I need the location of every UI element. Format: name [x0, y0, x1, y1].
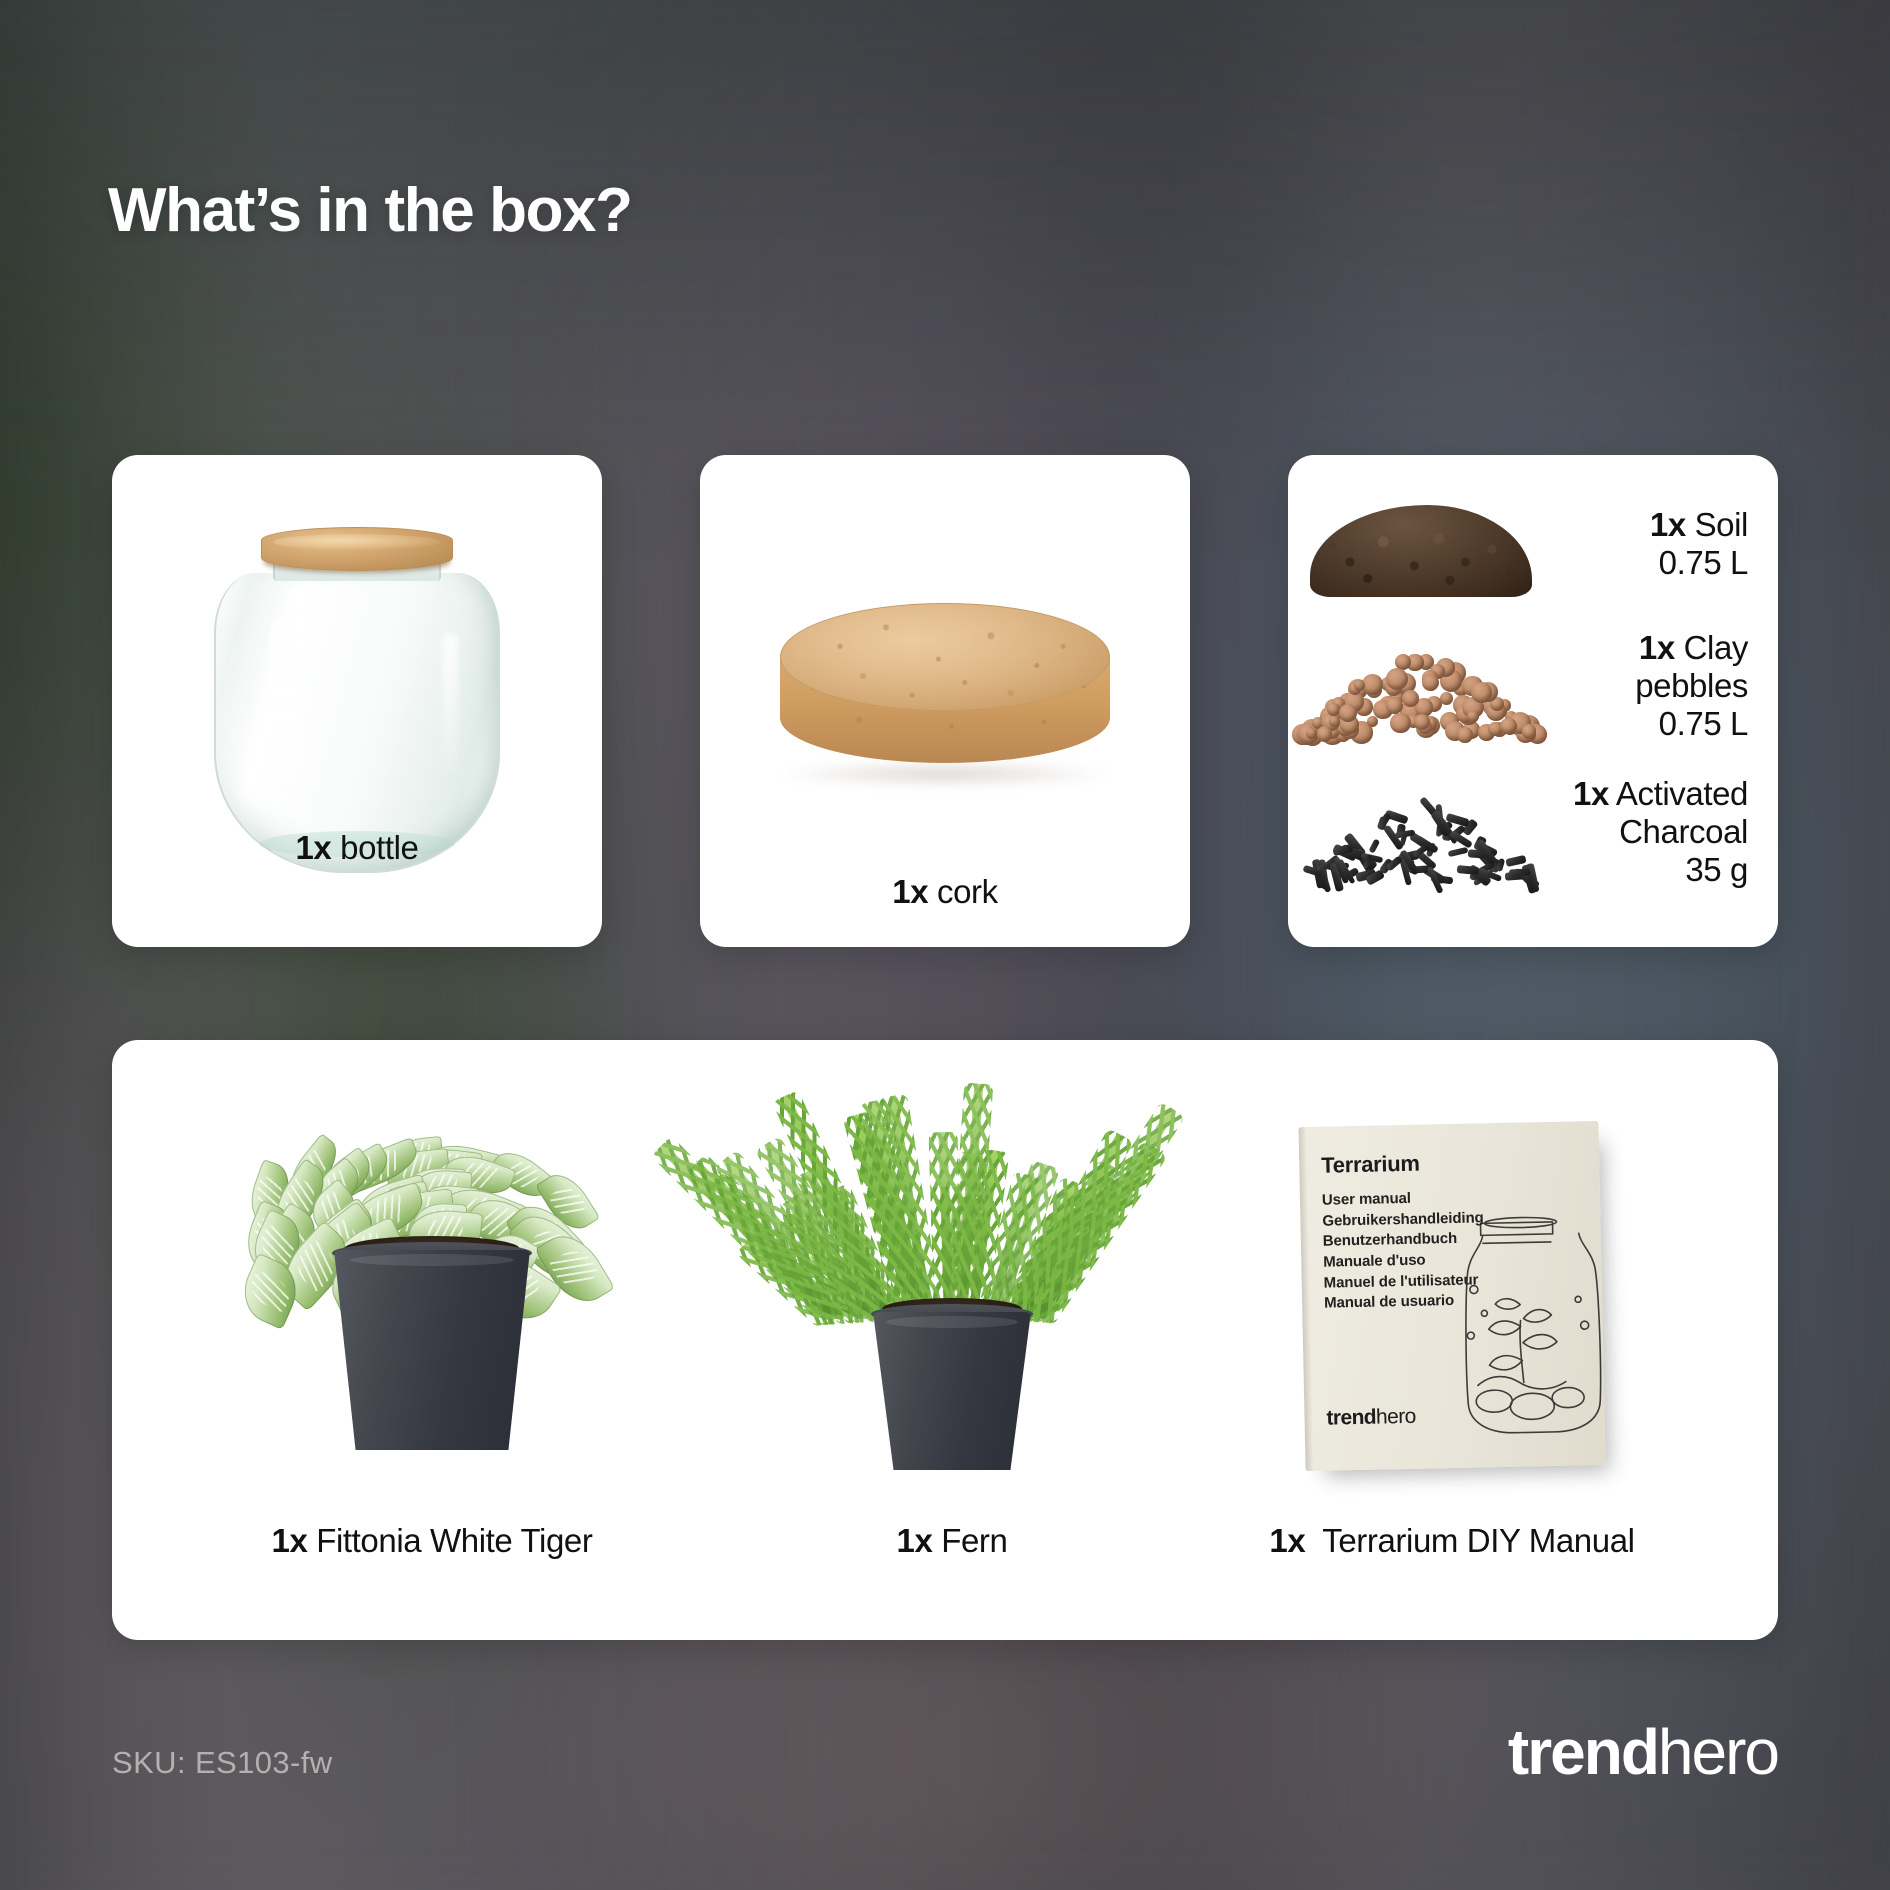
glass-jar-icon: [214, 573, 500, 873]
clay-pebble-heap: [1302, 657, 1538, 741]
jar-highlight-left: [270, 617, 304, 789]
substrate-row-soil: 1x Soil 0.75 L: [1288, 479, 1778, 609]
manual-logo-light: hero: [1376, 1405, 1416, 1429]
fittonia-caption: 1x Fittonia White Tiger: [182, 1522, 682, 1560]
card-bottle: 1x bottle: [112, 455, 602, 947]
item-fern: 1x Fern: [702, 1040, 1202, 1640]
charcoal-heap: [1308, 803, 1534, 885]
clay-qty: 1x: [1639, 629, 1675, 666]
page-title: What’s in the box?: [108, 175, 632, 246]
charcoal-qty: 1x: [1573, 775, 1609, 812]
manual-booklet-icon: Terrarium User manual Gebruikershandleid…: [1298, 1121, 1605, 1471]
cork-lid-icon: [261, 527, 453, 571]
fern-pot-icon: [873, 1312, 1031, 1470]
cork-disc-icon: [780, 603, 1110, 763]
charcoal-text: 1x Activated Charcoal 35 g: [1550, 775, 1778, 890]
fittonia-pot-icon: [334, 1250, 530, 1450]
fern-qty: 1x: [897, 1522, 933, 1559]
cork-qty: 1x: [892, 873, 928, 910]
manual-cover-title: Terrarium: [1321, 1147, 1577, 1178]
soil-pile-icon: [1288, 485, 1550, 603]
manual-qty: 1x: [1269, 1522, 1305, 1559]
brand-logo-bold: trend: [1508, 1716, 1658, 1788]
charcoal-name: Activated Charcoal: [1616, 775, 1748, 850]
infographic-canvas: What’s in the box? 1x bottle: [0, 0, 1890, 1890]
charcoal-amount: 35 g: [1685, 851, 1748, 888]
soil-mound: [1310, 505, 1532, 597]
substrate-row-clay-pebbles: 1x Clay pebbles 0.75 L: [1288, 621, 1778, 751]
card-plants-and-manual: 1x Fittonia White Tiger 1x Fern Terrariu…: [112, 1040, 1778, 1640]
cork-top-face: [780, 603, 1110, 711]
activated-charcoal-icon: [1288, 773, 1550, 891]
card-cork: 1x cork: [700, 455, 1190, 947]
substrate-row-activated-charcoal: 1x Activated Charcoal 35 g: [1288, 767, 1778, 897]
bottle-illustration: [112, 455, 602, 947]
fittonia-qty: 1x: [272, 1522, 308, 1559]
cork-caption: 1x cork: [700, 873, 1190, 911]
item-fittonia: 1x Fittonia White Tiger: [182, 1040, 682, 1640]
manual-label: Terrarium DIY Manual: [1322, 1522, 1634, 1559]
terrarium-line-drawing-icon: [1424, 1213, 1605, 1453]
cork-top-texture: [781, 604, 1109, 710]
item-manual: Terrarium User manual Gebruikershandleid…: [1192, 1040, 1712, 1640]
manual-brand-logo: trendhero: [1326, 1405, 1416, 1431]
manual-logo-bold: trend: [1326, 1406, 1376, 1430]
clay-pebbles-icon: [1288, 627, 1550, 745]
jar-highlight-right: [442, 633, 458, 773]
sku-text: SKU: ES103-fw: [112, 1745, 333, 1781]
brand-logo: trendhero: [1508, 1720, 1778, 1784]
card-substrates: 1x Soil 0.75 L 1x Clay pebbles 0.75 L 1x…: [1288, 455, 1778, 947]
soil-name: Soil: [1695, 506, 1748, 543]
fern-label: Fern: [941, 1522, 1007, 1559]
clay-amount: 0.75 L: [1659, 705, 1748, 742]
soil-text: 1x Soil 0.75 L: [1550, 506, 1778, 583]
bottle-caption: 1x bottle: [112, 829, 602, 867]
cork-drop-shadow: [777, 761, 1113, 787]
fittonia-label: Fittonia White Tiger: [316, 1522, 592, 1559]
soil-amount: 0.75 L: [1659, 544, 1748, 581]
fern-caption: 1x Fern: [702, 1522, 1202, 1560]
cork-label: cork: [937, 873, 998, 910]
brand-logo-light: hero: [1658, 1716, 1778, 1788]
manual-caption: 1x Terrarium DIY Manual: [1192, 1522, 1712, 1560]
bottle-qty: 1x: [295, 829, 331, 866]
clay-text: 1x Clay pebbles 0.75 L: [1550, 629, 1778, 744]
bottle-label: bottle: [340, 829, 418, 866]
soil-qty: 1x: [1650, 506, 1686, 543]
